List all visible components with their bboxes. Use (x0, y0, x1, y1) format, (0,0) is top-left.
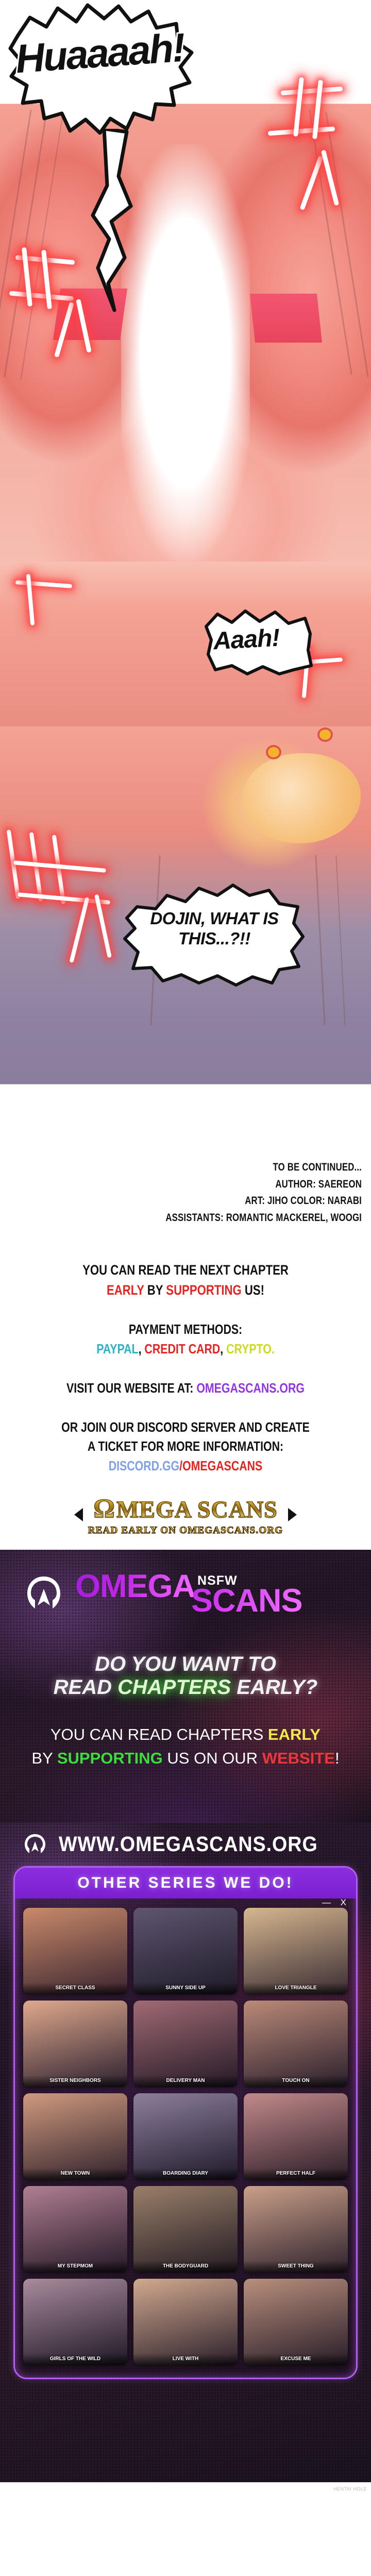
website-url-row[interactable]: WWW.OMEGASCANS.ORG (0, 1823, 371, 1866)
impact-glow (69, 897, 89, 963)
promo-payment-heading: PAYMENT METHODS: (33, 1320, 338, 1340)
promo-discord-line2: A TICKET FOR MORE INFORMATION: (33, 1437, 338, 1456)
comic-panel-2: Aaah! (0, 562, 371, 726)
sfx-text-aaah: Aaah! (213, 624, 280, 656)
discord-domain[interactable]: DISCORD.GG (109, 1458, 179, 1473)
series-card[interactable]: SWEET THING (244, 2186, 348, 2273)
credit-assistants: ASSISTANTS: ROMANTIC MACKEREL, WOOGI (72, 1210, 362, 1227)
series-card[interactable]: THE BODYGUARD (133, 2186, 238, 2273)
visit-url-link[interactable]: OMEGASCANS.ORG (196, 1380, 305, 1396)
credit-art-color: ART: JIHO COLOR: NARABI (72, 1193, 362, 1210)
gold-logo-main: MEGA SCANS (116, 1496, 278, 1523)
comic-page: Huaaaah! Aaah! (0, 0, 371, 2576)
series-card[interactable]: GIRLS OF THE WILD (23, 2279, 127, 2365)
sfx-burst-huaaaah: Huaaaah! (8, 3, 194, 142)
series-grid: SECRET CLASSSUNNY SIDE UPLOVE TRIANGLESI… (15, 1899, 356, 2368)
payment-credit-card[interactable]: CREDIT CARD (144, 1341, 220, 1357)
speed-line (325, 112, 368, 377)
website-url-text[interactable]: WWW.OMEGASCANS.ORG (59, 1832, 318, 1856)
series-card-title: GIRLS OF THE WILD (23, 2353, 127, 2365)
eye-left (268, 747, 279, 757)
speed-line (335, 855, 345, 1025)
impact-glow (293, 77, 304, 137)
page-footer: HENTAI HOLE (0, 2482, 371, 2500)
series-card[interactable]: PERFECT HALF (244, 2093, 348, 2180)
series-card-title: BOARDING DIARY (133, 2168, 238, 2179)
series-card-title: NEW TOWN (23, 2168, 127, 2179)
eye-right (319, 730, 331, 740)
comic-panel-3: DOJIN, WHAT IS THIS...?!! (0, 726, 371, 1030)
series-card[interactable]: MY STEPMOM (23, 2186, 127, 2273)
promo-discord-line1: OR JOIN OUR DISCORD SERVER AND CREATE (33, 1418, 338, 1437)
promo-by: BY (147, 1282, 163, 1298)
banner-question-line2: READ CHAPTERS EARLY? (0, 1676, 371, 1699)
banner-question-line1: DO YOU WANT TO (0, 1653, 371, 1676)
question-early: EARLY? (237, 1676, 317, 1699)
impact-glow (52, 835, 66, 904)
series-card[interactable]: LIVE WITH (133, 2279, 238, 2365)
visit-label: VISIT OUR WEBSITE AT: (66, 1380, 193, 1396)
promo-us: US! (245, 1282, 264, 1298)
left-arrow-icon (74, 1508, 83, 1521)
promo-next-chapter-line2: EARLY BY SUPPORTING US! (33, 1280, 338, 1300)
speed-line (315, 855, 325, 1025)
sfx-tail (77, 129, 149, 314)
brand-omega: OMEGA (75, 1571, 195, 1602)
series-card-title: EXCUSE ME (244, 2353, 348, 2365)
gold-logo-row: Ω MEGA SCANS READ EARLY ON OMEGASCANS.OR… (0, 1494, 371, 1536)
series-card[interactable]: DELIVERY MAN (133, 2001, 238, 2087)
banner-body-line2: BY SUPPORTING US ON OUR WEBSITE! (0, 1747, 371, 1771)
gold-logo-text: Ω MEGA SCANS READ EARLY ON OMEGASCANS.OR… (88, 1494, 283, 1536)
body-end: ! (335, 1749, 340, 1767)
series-card-title: TOUCH ON (244, 2075, 348, 2087)
credit-to-be-continued: TO BE CONTINUED... (72, 1159, 362, 1176)
body-supporting: SUPPORTING (57, 1749, 163, 1767)
series-card[interactable]: TOUCH ON (244, 2001, 348, 2087)
impact-glow (281, 87, 343, 95)
promo-block: YOU CAN READ THE NEXT CHAPTER EARLY BY S… (0, 1226, 371, 1476)
body-line1-text: YOU CAN READ CHAPTERS (50, 1725, 268, 1743)
series-section: WWW.OMEGASCANS.ORG OTHER SERIES WE DO! —… (0, 1823, 371, 2482)
series-card-title: DELIVERY MAN (133, 2075, 238, 2087)
impact-glow (268, 126, 335, 135)
credit-author: AUTHOR: SAEREON (72, 1176, 362, 1193)
promo-early: EARLY (107, 1282, 144, 1298)
series-card-title: LOVE TRIANGLE (244, 1982, 348, 1994)
series-card[interactable]: SISTER NEIGHBORS (23, 2001, 127, 2087)
brand-row: OMEGA NSFW SCANS (0, 1550, 371, 1616)
body-website: WEBSITE (262, 1749, 335, 1767)
gold-logo-block: Ω MEGA SCANS READ EARLY ON OMEGASCANS.OR… (0, 1476, 371, 1550)
series-card-title: SUNNY SIDE UP (133, 1982, 238, 1994)
body-early: EARLY (268, 1725, 321, 1743)
gold-logo-sub: READ EARLY ON OMEGASCANS.ORG (88, 1525, 283, 1536)
series-card[interactable]: SUNNY SIDE UP (133, 1908, 238, 1994)
impact-glow (15, 580, 72, 588)
promo-next-chapter-line1: YOU CAN READ THE NEXT CHAPTER (33, 1260, 338, 1280)
payment-crypto[interactable]: CRYPTO (226, 1341, 272, 1357)
banner-body-line1: YOU CAN READ CHAPTERS EARLY (0, 1723, 371, 1747)
promo-discord-link[interactable]: DISCORD.GG/OMEGASCANS (33, 1456, 338, 1476)
series-card[interactable]: LOVE TRIANGLE (244, 1908, 348, 1994)
omega-mark-icon (24, 1573, 64, 1614)
question-chapters: CHAPTERS (117, 1676, 231, 1699)
dialogue-text-dojin: DOJIN, WHAT IS THIS...?!! (132, 909, 297, 949)
series-card-title: LIVE WITH (133, 2353, 238, 2365)
omega-glyph-icon: Ω (93, 1494, 115, 1524)
sfx-burst-aaah: Aaah! (202, 609, 315, 676)
nsfw-banner: OMEGA NSFW SCANS DO YOU WANT TO READ CHA… (0, 1550, 371, 1823)
body-mid: US ON OUR (163, 1749, 262, 1767)
watermark: HENTAI HOLE (333, 2486, 367, 2492)
series-card-title: SECRET CLASS (23, 1982, 127, 1994)
comic-panel-1: Huaaaah! (0, 0, 371, 562)
body-by: BY (31, 1749, 57, 1767)
other-series-title-bar: OTHER SERIES WE DO! (15, 1868, 356, 1899)
comic-panel-4 (0, 1030, 371, 1128)
question-read: READ (54, 1676, 112, 1699)
series-card-title: MY STEPMOM (23, 2261, 127, 2272)
impact-glow (299, 156, 323, 210)
window-controls[interactable]: — X (322, 1897, 350, 1908)
series-card-title: SWEET THING (244, 2261, 348, 2272)
hair-shape (242, 753, 361, 843)
promo-payment-methods: PAYPAL, CREDIT CARD, CRYPTO. (33, 1340, 338, 1359)
series-card[interactable]: BOARDING DIARY (133, 2093, 238, 2180)
series-card-title: SISTER NEIGHBORS (23, 2075, 127, 2087)
other-series-title: OTHER SERIES WE DO! (77, 1874, 293, 1892)
brand-text: OMEGA NSFW SCANS (75, 1571, 302, 1616)
promo-supporting: SUPPORTING (166, 1282, 241, 1298)
right-arrow-icon (288, 1508, 297, 1521)
series-card[interactable]: NEW TOWN (23, 2093, 127, 2180)
series-card-title: PERFECT HALF (244, 2168, 348, 2179)
brand-scans: SCANS (191, 1586, 302, 1616)
payment-paypal[interactable]: PAYPAL (96, 1341, 138, 1357)
series-card-title: THE BODYGUARD (133, 2261, 238, 2272)
discord-path[interactable]: /OMEGASCANS (179, 1458, 262, 1473)
credits-block: TO BE CONTINUED... AUTHOR: SAEREON ART: … (0, 1128, 371, 1226)
promo-visit-website: VISIT OUR WEBSITE AT: OMEGASCANS.ORG (33, 1379, 338, 1398)
series-card[interactable]: EXCUSE ME (244, 2279, 348, 2365)
omega-mark-small-icon (23, 1832, 47, 1857)
other-series-window: OTHER SERIES WE DO! — X SECRET CLASSSUNN… (13, 1866, 358, 2379)
cloth-right (250, 294, 322, 343)
series-card[interactable]: SECRET CLASS (23, 1908, 127, 1994)
